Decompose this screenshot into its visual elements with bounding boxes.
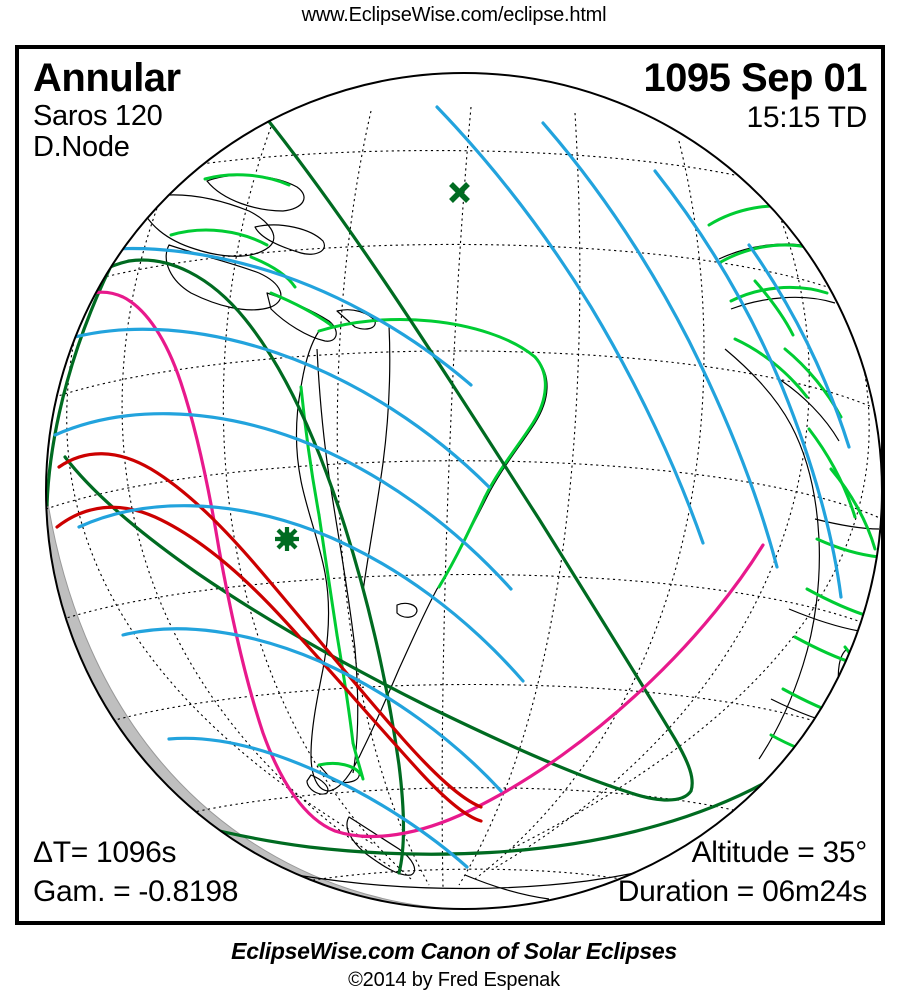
eclipse-map-frame: Annular Saros 120 D.Node 1095 Sep 01 15:… [15,45,885,925]
eclipse-type-label: Annular [33,57,181,99]
gamma-value: Gam. = -0.8198 [33,873,238,911]
eclipse-globe-map [19,49,881,921]
greatest-eclipse-marker-star [275,527,299,551]
delta-t-value: ΔT= 1096s [33,834,238,872]
eclipse-stats-left: ΔT= 1096s Gam. = -0.8198 [33,834,238,911]
eclipse-stats-right: Altitude = 35° Duration = 06m24s [618,834,867,911]
eclipse-time-label: 15:15 TD [643,102,867,134]
page-url: www.EclipseWise.com/eclipse.html [0,4,908,27]
altitude-value: Altitude = 35° [618,834,867,872]
node-label: D.Node [33,132,181,162]
eclipse-header-left: Annular Saros 120 D.Node [33,57,181,163]
saros-series-label: Saros 120 [33,101,181,131]
copyright-caption: ©2014 by Fred Espenak [0,969,908,992]
canon-title-caption: EclipseWise.com Canon of Solar Eclipses [0,938,908,965]
duration-value: Duration = 06m24s [618,873,867,911]
eclipse-date-label: 1095 Sep 01 [643,57,867,99]
eclipse-header-right: 1095 Sep 01 15:15 TD [643,57,867,134]
